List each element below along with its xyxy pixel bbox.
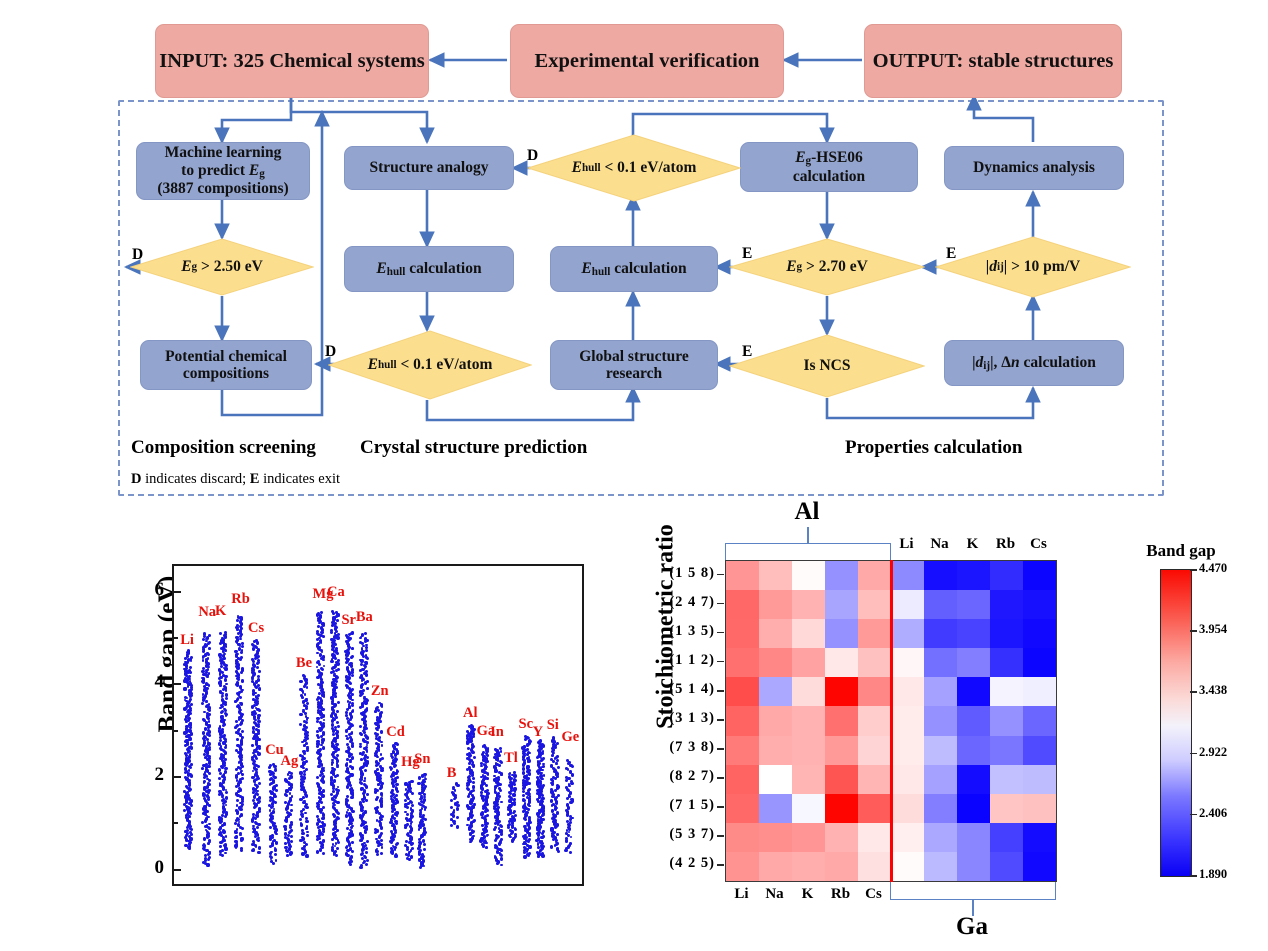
scatter-point	[557, 766, 560, 769]
scatter-point	[472, 835, 475, 838]
heatmap-cell[interactable]	[1023, 590, 1056, 619]
scatter-point	[222, 674, 225, 677]
scatter-point	[509, 772, 512, 775]
scatter-point	[224, 843, 227, 846]
heatmap-row-tick	[717, 835, 724, 837]
node-dij-calculation[interactable]: |dij|, Δn calculation	[944, 340, 1124, 386]
scatter-point	[224, 770, 227, 773]
scatter-point	[331, 763, 334, 766]
heatmap-cell[interactable]	[726, 561, 759, 590]
scatter-point	[301, 836, 304, 839]
scatter-point	[486, 834, 489, 837]
scatter-point	[236, 619, 239, 622]
heatmap-cell[interactable]	[957, 648, 990, 677]
heatmap-cell[interactable]	[825, 794, 858, 823]
node-ehull-calculation-left[interactable]: Ehull calculation	[344, 246, 514, 292]
scatter-point	[190, 742, 193, 745]
scatter-point	[335, 788, 338, 791]
scatter-point	[526, 811, 529, 814]
heatmap-cell[interactable]	[891, 561, 924, 590]
decision-dij-10[interactable]: |dij| > 10 pm/V	[935, 236, 1131, 298]
scatter-point	[322, 827, 325, 830]
scatter-point	[306, 831, 309, 834]
heatmap-cell[interactable]	[759, 794, 792, 823]
scatter-point	[258, 846, 261, 849]
scatter-ytick-mark	[172, 869, 181, 871]
heatmap-cell[interactable]	[858, 794, 891, 823]
heatmap-cell[interactable]	[924, 561, 957, 590]
scatter-point	[187, 717, 190, 720]
heatmap-cell[interactable]	[726, 736, 759, 765]
scatter-point	[252, 799, 255, 802]
node-machine-learning[interactable]: Machine learningto predict Eg(3887 compo…	[136, 142, 310, 200]
scatter-ytick-mark	[172, 591, 181, 593]
colorbar-tick-label: 1.890	[1199, 867, 1227, 882]
heatmap-cell[interactable]	[792, 706, 825, 735]
scatter-label-ge: Ge	[562, 729, 580, 746]
scatter-point	[497, 776, 500, 779]
heatmap-row-label: (1 1 2)	[623, 652, 715, 669]
scatter-point	[235, 835, 238, 838]
heatmap-cell[interactable]	[726, 648, 759, 677]
scatter-label-na: Na	[198, 604, 216, 621]
scatter-point	[240, 837, 243, 840]
scatter-point	[364, 632, 367, 635]
heatmap-cell[interactable]	[858, 736, 891, 765]
scatter-point	[257, 723, 260, 726]
scatter-point	[289, 851, 292, 854]
heatmap-cell[interactable]	[759, 648, 792, 677]
heatmap-row-tick	[717, 603, 724, 605]
scatter-point	[550, 764, 553, 767]
heatmap-cell[interactable]	[726, 794, 759, 823]
heatmap-cell[interactable]	[759, 852, 792, 881]
scatter-point	[301, 829, 304, 832]
scatter-point	[275, 841, 278, 844]
heatmap-cell[interactable]	[792, 823, 825, 852]
colorbar-tick-label: 2.922	[1199, 745, 1227, 760]
scatter-point	[241, 773, 244, 776]
scatter-ytick-label: 2	[134, 764, 164, 786]
heatmap-cell[interactable]	[792, 590, 825, 619]
scatter-point	[206, 863, 209, 866]
node-experimental-label: Experimental verification	[535, 50, 760, 73]
scatter-label-sr: Sr	[341, 612, 356, 629]
scatter-point	[365, 799, 368, 802]
scatter-point	[207, 657, 210, 660]
heatmap-cell[interactable]	[858, 706, 891, 735]
scatter-ytick-minor	[172, 730, 178, 732]
scatter-point	[366, 859, 369, 862]
heatmap-cell[interactable]	[759, 677, 792, 706]
heatmap-cell[interactable]	[825, 561, 858, 590]
heatmap-cell[interactable]	[726, 765, 759, 794]
heatmap-cell[interactable]	[1023, 852, 1056, 881]
scatter-point	[254, 821, 257, 824]
scatter-point	[406, 857, 409, 860]
scatter-point	[207, 782, 210, 785]
heatmap-cell[interactable]	[759, 619, 792, 648]
scatter-point	[319, 614, 322, 617]
heatmap-cell[interactable]	[858, 590, 891, 619]
scatter-point	[380, 730, 383, 733]
colorbar-tick-mark	[1190, 875, 1197, 877]
heatmap-cell[interactable]	[1023, 648, 1056, 677]
scatter-point	[349, 847, 352, 850]
scatter-point	[497, 792, 500, 795]
scatter-point	[305, 698, 308, 701]
heatmap-cell[interactable]	[1023, 619, 1056, 648]
scatter-point	[189, 666, 192, 669]
scatter-point	[335, 611, 338, 614]
scatter-point	[202, 718, 205, 721]
scatter-point	[380, 852, 383, 855]
scatter-label-cd: Cd	[386, 724, 405, 741]
scatter-point	[565, 786, 568, 789]
heatmap-cell[interactable]	[924, 794, 957, 823]
scatter-point	[303, 841, 306, 844]
decision-ehull-bottom-label: Ehull < 0.1 eV/atom	[328, 330, 532, 400]
scatter-point	[334, 850, 337, 853]
heatmap-row-tick	[717, 748, 724, 750]
heatmap-cell[interactable]	[792, 794, 825, 823]
scatter-point	[542, 784, 545, 787]
heatmap-cell[interactable]	[891, 736, 924, 765]
heatmap-row-label: (7 1 5)	[623, 797, 715, 814]
scatter-point	[337, 668, 340, 671]
heatmap-cell[interactable]	[957, 823, 990, 852]
scatter-point	[316, 630, 319, 633]
heatmap-cell[interactable]	[990, 677, 1023, 706]
scatter-point	[569, 842, 572, 845]
scatter-point	[556, 833, 559, 836]
decision-eg-250[interactable]: Eg > 2.50 eV	[130, 238, 314, 296]
heatmap-cell[interactable]	[957, 852, 990, 881]
scatter-point	[364, 769, 367, 772]
scatter-point	[345, 675, 348, 678]
heatmap-cell[interactable]	[759, 561, 792, 590]
scatter-point	[203, 632, 206, 635]
scatter-point	[283, 825, 286, 828]
heatmap-cell[interactable]	[858, 561, 891, 590]
scatter-point	[303, 724, 306, 727]
heatmap-cell[interactable]	[924, 736, 957, 765]
scatter-point	[380, 784, 383, 787]
heatmap-cell[interactable]	[726, 677, 759, 706]
scatter-point	[450, 818, 453, 821]
decision-dij-10-label: |dij| > 10 pm/V	[935, 236, 1131, 298]
node-input-label: INPUT: 325 Chemical systems	[159, 50, 425, 73]
scatter-point	[522, 790, 525, 793]
heatmap-cell[interactable]	[957, 561, 990, 590]
heatmap-cell[interactable]	[1023, 677, 1056, 706]
heatmap-cell[interactable]	[825, 736, 858, 765]
scatter-point	[219, 725, 222, 728]
heatmap-cell[interactable]	[759, 706, 792, 735]
scatter-point	[569, 764, 572, 767]
scatter-ytick-label: 6	[134, 579, 164, 601]
heatmap-cell[interactable]	[858, 852, 891, 881]
scatter-point	[218, 653, 221, 656]
scatter-point	[299, 680, 302, 683]
heatmap-cell[interactable]	[990, 561, 1023, 590]
scatter-point	[332, 790, 335, 793]
heatmap-cell[interactable]	[1023, 823, 1056, 852]
scatter-label-tl: Tl	[504, 750, 518, 767]
heatmap-cell[interactable]	[825, 648, 858, 677]
node-dynamics-analysis[interactable]: Dynamics analysis	[944, 146, 1124, 190]
scatter-point	[299, 771, 302, 774]
scatter-point	[456, 825, 459, 828]
scatter-point	[334, 695, 337, 698]
heatmap-cell[interactable]	[858, 823, 891, 852]
heatmap-cell[interactable]	[1023, 706, 1056, 735]
scatter-label-k: K	[215, 603, 226, 620]
heatmap-cell[interactable]	[990, 619, 1023, 648]
heatmap-cell[interactable]	[990, 736, 1023, 765]
scatter-point	[203, 797, 206, 800]
legend-d-text: indicates discard;	[141, 471, 249, 487]
heatmap-cell[interactable]	[957, 590, 990, 619]
heatmap-cell[interactable]	[825, 706, 858, 735]
scatter-point	[364, 810, 367, 813]
scatter-point	[337, 701, 340, 704]
heatmap-cell[interactable]	[726, 823, 759, 852]
decision-eg-270[interactable]: Eg > 2.70 eV	[729, 238, 925, 296]
heatmap-cell[interactable]	[891, 765, 924, 794]
heatmap-cell[interactable]	[891, 706, 924, 735]
scatter-point	[190, 763, 193, 766]
heatmap-cell[interactable]	[990, 823, 1023, 852]
flag-exit-isncs: E	[742, 343, 752, 361]
scatter-point	[207, 765, 210, 768]
scatter-point	[255, 792, 258, 795]
heatmap-cell[interactable]	[924, 619, 957, 648]
heatmap-cell[interactable]	[825, 590, 858, 619]
heatmap-cell[interactable]	[825, 677, 858, 706]
heatmap-row-label: (1 5 8)	[623, 565, 715, 582]
scatter-point	[235, 670, 238, 673]
heatmap-cell[interactable]	[726, 706, 759, 735]
heatmap-cell[interactable]	[891, 677, 924, 706]
heatmap-cell[interactable]	[891, 590, 924, 619]
scatter-point	[241, 667, 244, 670]
heatmap-cell[interactable]	[1023, 794, 1056, 823]
scatter-point	[184, 767, 187, 770]
heatmap-cell[interactable]	[924, 823, 957, 852]
heatmap-cell[interactable]	[990, 648, 1023, 677]
heatmap-cell[interactable]	[792, 852, 825, 881]
scatter-point	[224, 675, 227, 678]
heatmap-cell[interactable]	[990, 706, 1023, 735]
scatter-point	[365, 654, 368, 657]
decision-is-ncs[interactable]: Is NCS	[729, 334, 925, 398]
scatter-point	[364, 661, 367, 664]
scatter-point	[365, 825, 368, 828]
heatmap-cell[interactable]	[792, 765, 825, 794]
scatter-point	[319, 653, 322, 656]
heatmap-cell[interactable]	[924, 852, 957, 881]
heatmap-cell[interactable]	[891, 648, 924, 677]
scatter-point	[316, 776, 319, 779]
scatter-point	[289, 792, 292, 795]
heatmap-cell[interactable]	[792, 619, 825, 648]
scatter-point	[301, 832, 304, 835]
scatter-point	[305, 854, 308, 857]
scatter-point	[500, 838, 503, 841]
decision-ehull-top-label: Ehull < 0.1 eV/atom	[527, 134, 741, 202]
scatter-ytick-label: 4	[134, 671, 164, 693]
scatter-point	[318, 829, 321, 832]
heatmap-cell[interactable]	[1023, 561, 1056, 590]
node-input[interactable]: INPUT: 325 Chemical systems	[155, 24, 429, 98]
scatter-point	[494, 748, 497, 751]
scatter-point	[410, 780, 413, 783]
scatter-point	[290, 840, 293, 843]
heatmap-cell[interactable]	[1023, 765, 1056, 794]
heatmap-cell[interactable]	[825, 823, 858, 852]
node-hse06-calculation[interactable]: Eg-HSE06calculation	[740, 142, 918, 192]
scatter-point	[395, 811, 398, 814]
heatmap-cell[interactable]	[825, 852, 858, 881]
scatter-point	[252, 663, 255, 666]
heatmap-row-tick	[717, 690, 724, 692]
heatmap-cell[interactable]	[759, 823, 792, 852]
heatmap-row-label: (3 1 3)	[623, 710, 715, 727]
scatter-point	[334, 713, 337, 716]
heatmap-cell[interactable]	[1023, 736, 1056, 765]
scatter-point	[565, 767, 568, 770]
heatmap-cell[interactable]	[957, 706, 990, 735]
heatmap-cell[interactable]	[792, 648, 825, 677]
heatmap-cell[interactable]	[726, 590, 759, 619]
heatmap-cell[interactable]	[957, 765, 990, 794]
scatter-point	[208, 703, 211, 706]
heatmap-cell[interactable]	[957, 677, 990, 706]
heatmap-cell[interactable]	[957, 794, 990, 823]
scatter-point	[366, 793, 369, 796]
heatmap-row-label: (5 1 4)	[623, 681, 715, 698]
heatmap-cell[interactable]	[825, 619, 858, 648]
scatter-point	[349, 829, 352, 832]
heatmap-cell[interactable]	[726, 619, 759, 648]
heatmap-cell[interactable]	[990, 590, 1023, 619]
scatter-point	[359, 732, 362, 735]
scatter-point	[316, 734, 319, 737]
decision-ehull-bottom[interactable]: Ehull < 0.1 eV/atom	[328, 330, 532, 400]
scatter-point	[359, 745, 362, 748]
scatter-point	[542, 750, 545, 753]
scatter-label-b: B	[447, 765, 457, 782]
heatmap-cell[interactable]	[924, 765, 957, 794]
heatmap-cell[interactable]	[825, 765, 858, 794]
scatter-ytick-mark	[172, 683, 181, 685]
heatmap-cell[interactable]	[990, 852, 1023, 881]
heatmap-row-label: (5 3 7)	[623, 826, 715, 843]
heatmap-row-label: (1 3 5)	[623, 623, 715, 640]
node-potential-compositions[interactable]: Potential chemicalcompositions	[140, 340, 312, 390]
heatmap-cell[interactable]	[858, 619, 891, 648]
heatmap-cell[interactable]	[792, 561, 825, 590]
heatmap-cell[interactable]	[891, 619, 924, 648]
scatter-point	[336, 710, 339, 713]
decision-ehull-top[interactable]: Ehull < 0.1 eV/atom	[527, 134, 741, 202]
scatter-point	[302, 674, 305, 677]
scatter-point	[331, 761, 334, 764]
heatmap-cell[interactable]	[792, 736, 825, 765]
scatter-point	[406, 823, 409, 826]
scatter-point	[203, 837, 206, 840]
heatmap-cell[interactable]	[792, 677, 825, 706]
heatmap-cell[interactable]	[891, 794, 924, 823]
heatmap-cell[interactable]	[759, 736, 792, 765]
heatmap-cell[interactable]	[891, 852, 924, 881]
scatter-point	[513, 778, 516, 781]
scatter-point	[514, 833, 517, 836]
heatmap-cell[interactable]	[858, 765, 891, 794]
scatter-point	[317, 818, 320, 821]
node-global-structure-research[interactable]: Global structureresearch	[550, 340, 718, 390]
scatter-point	[351, 631, 354, 634]
heatmap-cell[interactable]	[924, 648, 957, 677]
heatmap-cell[interactable]	[759, 765, 792, 794]
scatter-point	[359, 725, 362, 728]
scatter-point	[234, 650, 237, 653]
heatmap-cell[interactable]	[924, 677, 957, 706]
scatter-label-be: Be	[296, 655, 312, 672]
scatter-point	[351, 668, 354, 671]
heatmap-cell[interactable]	[891, 823, 924, 852]
scatter-ytick-minor	[172, 822, 178, 824]
node-output[interactable]: OUTPUT: stable structures	[864, 24, 1122, 98]
scatter-label-in: In	[490, 724, 504, 741]
heatmap-col-label-bottom: Cs	[852, 886, 896, 903]
node-structure-analogy[interactable]: Structure analogy	[344, 146, 514, 190]
scatter-point	[304, 712, 307, 715]
scatter-point	[257, 851, 260, 854]
scatter-point	[569, 851, 572, 854]
scatter-point	[352, 709, 355, 712]
node-ehull-calculation-right[interactable]: Ehull calculation	[550, 246, 718, 292]
heatmap-cell[interactable]	[726, 852, 759, 881]
heatmap-cell[interactable]	[924, 590, 957, 619]
heatmap-cell[interactable]	[957, 736, 990, 765]
scatter-point	[376, 840, 379, 843]
heatmap-cell[interactable]	[924, 706, 957, 735]
heatmap-cell[interactable]	[990, 765, 1023, 794]
decision-is-ncs-label: Is NCS	[729, 334, 925, 398]
scatter-point	[322, 839, 325, 842]
heatmap-cell[interactable]	[990, 794, 1023, 823]
scatter-label-sn: Sn	[414, 751, 430, 768]
flowchart-legend: D indicates discard; E indicates exit	[131, 471, 340, 488]
heatmap-cell[interactable]	[858, 648, 891, 677]
heatmap-cell[interactable]	[858, 677, 891, 706]
scatter-point	[208, 647, 211, 650]
scatter-point	[319, 639, 322, 642]
scatter-point	[203, 843, 206, 846]
heatmap-cell[interactable]	[957, 619, 990, 648]
scatter-point	[375, 760, 378, 763]
heatmap-cell[interactable]	[759, 590, 792, 619]
scatter-point	[554, 836, 557, 839]
node-experimental-verification[interactable]: Experimental verification	[510, 24, 784, 98]
scatter-point	[550, 845, 553, 848]
scatter-label-ag: Ag	[281, 753, 299, 770]
scatter-point	[346, 827, 349, 830]
scatter-point	[568, 761, 571, 764]
scatter-point	[362, 751, 365, 754]
